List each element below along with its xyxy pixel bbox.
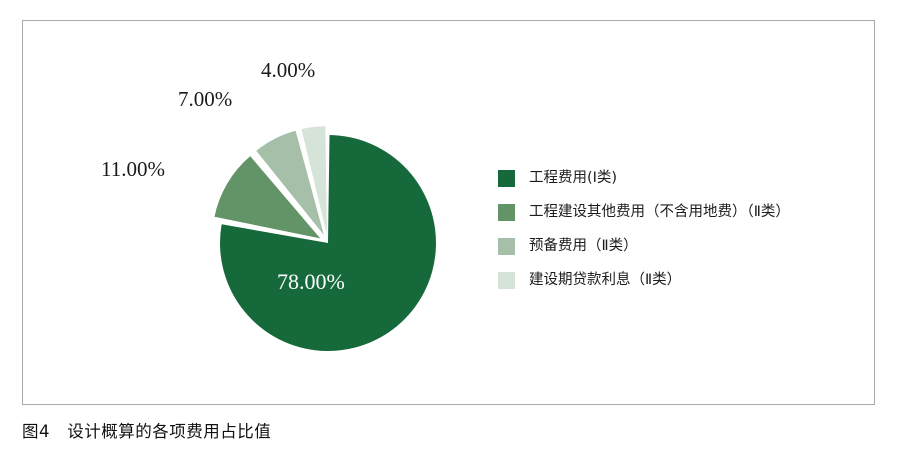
legend-item[interactable]: 预备费用（Ⅱ类）	[498, 229, 873, 263]
legend-item-label: 建设期贷款利息（Ⅱ类）	[529, 273, 681, 288]
pie-label-4pct: 4.00%	[261, 58, 315, 83]
legend-item-label: 工程费用(Ⅰ类)	[529, 171, 617, 186]
chart-legend: 工程费用(Ⅰ类)工程建设其他费用（不含用地费）（Ⅱ类）预备费用（Ⅱ类）建设期贷款…	[498, 161, 873, 297]
legend-item-label: 工程建设其他费用（不含用地费）（Ⅱ类）	[529, 205, 790, 220]
legend-swatch-icon	[498, 170, 515, 187]
legend-swatch-icon	[498, 238, 515, 255]
pie-slice-group	[214, 126, 436, 351]
pie-label-11pct: 11.00%	[101, 157, 165, 182]
figure-caption: 图4 设计概算的各项费用占比值	[22, 418, 271, 442]
pie-chart: 11.00% 7.00% 4.00% 78.00% 工程费用(Ⅰ类)工程建设其他…	[23, 21, 876, 406]
legend-swatch-icon	[498, 272, 515, 289]
legend-item[interactable]: 建设期贷款利息（Ⅱ类）	[498, 263, 873, 297]
legend-swatch-icon	[498, 204, 515, 221]
figure-frame: 11.00% 7.00% 4.00% 78.00% 工程费用(Ⅰ类)工程建设其他…	[22, 20, 875, 405]
legend-item[interactable]: 工程费用(Ⅰ类)	[498, 161, 873, 195]
pie-label-7pct: 7.00%	[178, 87, 232, 112]
legend-item-label: 预备费用（Ⅱ类）	[529, 239, 638, 254]
legend-item[interactable]: 工程建设其他费用（不含用地费）（Ⅱ类）	[498, 195, 873, 229]
pie-label-78pct: 78.00%	[277, 269, 345, 295]
figure-root: 11.00% 7.00% 4.00% 78.00% 工程费用(Ⅰ类)工程建设其他…	[0, 0, 900, 455]
